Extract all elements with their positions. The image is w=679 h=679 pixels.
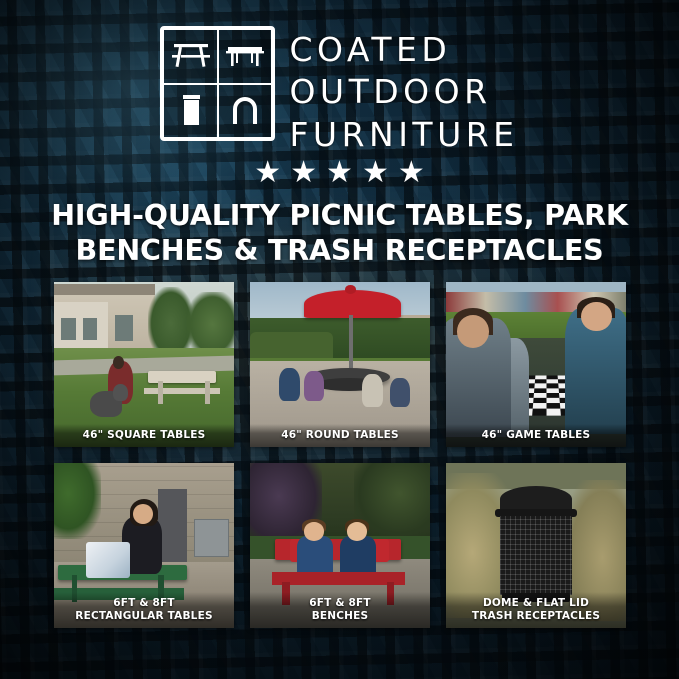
headline-line-2: BENCHES & TRASH RECEPTACLES	[0, 233, 679, 268]
headline: HIGH-QUALITY PICNIC TABLES, PARK BENCHES…	[0, 198, 679, 268]
product-caption-rectangular-tables: 6FT & 8FT RECTANGULAR TABLES	[54, 592, 234, 628]
product-caption-trash-receptacles: DOME & FLAT LID TRASH RECEPTACLES	[446, 592, 626, 628]
caption-line: TRASH RECEPTACLES	[450, 610, 622, 622]
caption-line: 6FT & 8FT	[58, 597, 230, 609]
product-photo-square-tables	[54, 282, 234, 447]
park-bench-icon	[218, 29, 273, 84]
logo-mark-grid	[160, 26, 275, 141]
product-tile-trash-receptacles[interactable]: DOME & FLAT LID TRASH RECEPTACLES	[446, 463, 626, 628]
product-caption-game-tables: 46" GAME TABLES	[446, 424, 626, 447]
product-photo-round-tables	[250, 282, 430, 447]
star-icon-5: ★	[398, 158, 425, 188]
poster-content: COATED OUTDOOR FURNITURE ★ ★ ★ ★ ★ HIGH-…	[0, 0, 679, 679]
brand-line-3: FURNITURE	[289, 115, 518, 155]
product-tile-square-tables[interactable]: 46" SQUARE TABLES	[54, 282, 234, 447]
product-caption-round-tables: 46" ROUND TABLES	[250, 424, 430, 447]
brand-line-2: OUTDOOR	[289, 72, 518, 112]
caption-line: DOME & FLAT LID	[450, 597, 622, 609]
caption-line: 46" SQUARE TABLES	[58, 429, 230, 441]
caption-line: BENCHES	[254, 610, 426, 622]
product-poster-image: COATED OUTDOOR FURNITURE ★ ★ ★ ★ ★ HIGH-…	[0, 0, 679, 679]
rating-stars: ★ ★ ★ ★ ★	[0, 158, 679, 188]
arch-table-icon	[218, 84, 273, 139]
headline-line-1: HIGH-QUALITY PICNIC TABLES, PARK	[0, 198, 679, 233]
star-icon-1: ★	[254, 158, 281, 188]
brand-line-1: COATED	[289, 30, 518, 70]
product-caption-square-tables: 46" SQUARE TABLES	[54, 424, 234, 447]
product-caption-benches: 6FT & 8FT BENCHES	[250, 592, 430, 628]
picnic-table-end-icon	[163, 29, 218, 84]
star-icon-4: ★	[362, 158, 389, 188]
star-icon-3: ★	[326, 158, 353, 188]
star-icon-2: ★	[290, 158, 317, 188]
brand-wordmark: COATED OUTDOOR FURNITURE	[289, 26, 518, 155]
brand-logo: COATED OUTDOOR FURNITURE	[0, 26, 679, 155]
product-tile-benches[interactable]: 6FT & 8FT BENCHES	[250, 463, 430, 628]
caption-line: 6FT & 8FT	[254, 597, 426, 609]
caption-line: 46" GAME TABLES	[450, 429, 622, 441]
product-tile-game-tables[interactable]: 46" GAME TABLES	[446, 282, 626, 447]
caption-line: 46" ROUND TABLES	[254, 429, 426, 441]
product-photo-game-tables	[446, 282, 626, 447]
caption-line: RECTANGULAR TABLES	[58, 610, 230, 622]
product-tile-round-tables[interactable]: 46" ROUND TABLES	[250, 282, 430, 447]
product-photo-grid: 46" SQUARE TABLES	[54, 282, 626, 628]
trash-receptacle-icon	[163, 84, 218, 139]
product-tile-rectangular-tables[interactable]: 6FT & 8FT RECTANGULAR TABLES	[54, 463, 234, 628]
